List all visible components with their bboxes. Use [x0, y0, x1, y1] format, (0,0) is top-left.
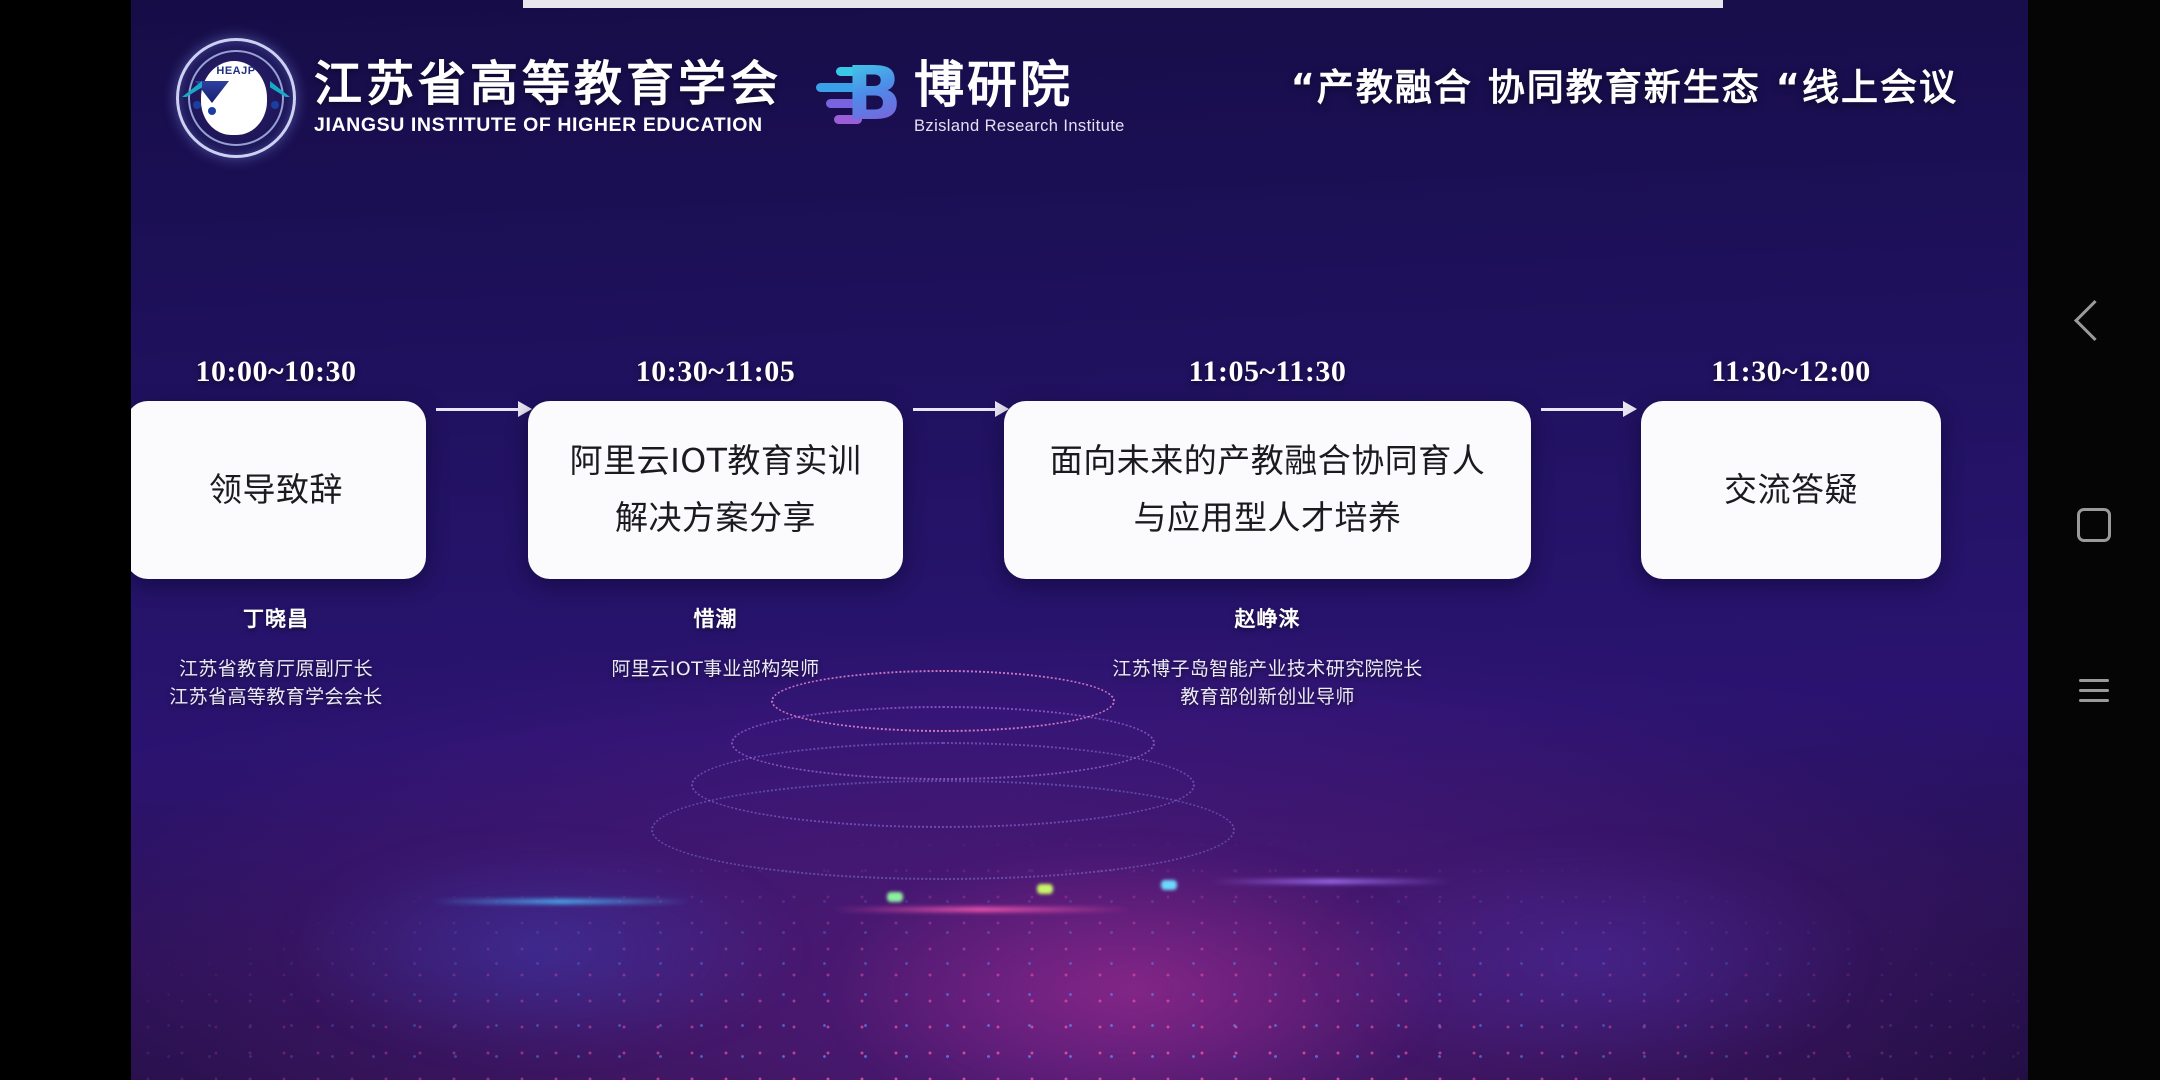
nav-recents-button[interactable] [2028, 645, 2160, 735]
agenda-arrow-1-2 [436, 401, 532, 417]
agenda-time-2: 10:30~11:05 [528, 355, 903, 389]
agenda-arrow-3-4 [1541, 401, 1637, 417]
agenda-arrow-2-3 [913, 401, 1009, 417]
agenda-role-line-1-2: 江苏省高等教育学会会长 [131, 683, 546, 711]
recents-menu-icon [2079, 679, 2109, 702]
agenda-card-line-1-1: 领导致辞 [209, 462, 343, 519]
agenda-role-line-3-1: 江苏博子岛智能产业技术研究院院长 [884, 655, 1651, 683]
back-chevron-icon [2073, 299, 2114, 340]
nav-back-button[interactable] [2028, 275, 2160, 365]
agenda-card-2: 阿里云IOT教育实训 解决方案分享 [528, 401, 903, 579]
agenda-time-4: 11:30~12:00 [1641, 355, 1941, 389]
agenda-speaker-1: 丁晓昌 [131, 603, 426, 633]
agenda-role-line-3-2: 教育部创新创业导师 [884, 683, 1651, 711]
home-square-icon [2077, 508, 2111, 542]
agenda-time-1: 10:00~10:30 [131, 355, 426, 389]
agenda-time-3: 11:05~11:30 [1004, 355, 1531, 389]
agenda-timeline: 10:00~10:30 领导致辞 丁晓昌 江苏省教育厅原副厅长 江苏省高等教育学… [131, 0, 2028, 1080]
agenda-speaker-3: 赵峥涞 [1004, 603, 1531, 633]
presentation-slide: HEAJP 江苏省高等教育学会 JIANGSU INSTITUTE OF HIG… [131, 0, 2028, 1080]
agenda-card-4: 交流答疑 [1641, 401, 1941, 579]
agenda-card-1: 领导致辞 [131, 401, 426, 579]
right-system-bar [2028, 0, 2160, 1080]
nav-home-button[interactable] [2028, 480, 2160, 570]
agenda-card-3: 面向未来的产教融合协同育人 与应用型人才培养 [1004, 401, 1531, 579]
agenda-card-line-3-1: 面向未来的产教融合协同育人 [1050, 433, 1486, 490]
left-black-bar [0, 0, 131, 1080]
agenda-card-line-3-2: 与应用型人才培养 [1050, 490, 1486, 547]
agenda-role-3: 江苏博子岛智能产业技术研究院院长 教育部创新创业导师 [884, 655, 1651, 711]
screen: HEAJP 江苏省高等教育学会 JIANGSU INSTITUTE OF HIG… [0, 0, 2160, 1080]
agenda-speaker-2: 惜潮 [528, 603, 903, 633]
agenda-card-line-2-1: 阿里云IOT教育实训 [570, 433, 862, 490]
agenda-card-line-4-1: 交流答疑 [1724, 462, 1858, 519]
agenda-card-line-2-2: 解决方案分享 [570, 490, 862, 547]
